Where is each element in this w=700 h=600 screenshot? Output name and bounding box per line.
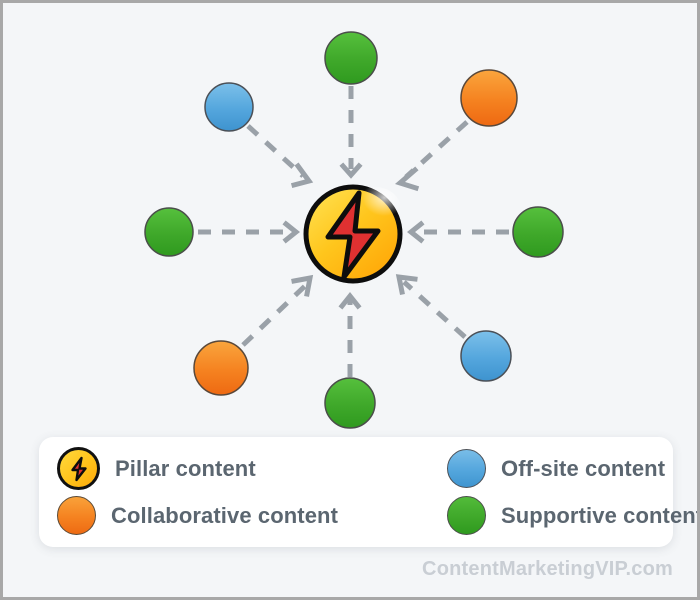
node-lower-left-orange[interactable]	[194, 341, 248, 395]
arrowhead-right-green	[411, 224, 421, 240]
node-left-green[interactable]	[145, 208, 193, 256]
node-bottom-green[interactable]	[325, 378, 375, 428]
arrow-lower-left-orange	[243, 286, 305, 345]
legend-item-supportive-content[interactable]: Supportive content	[429, 496, 673, 535]
legend-item-off-site-content[interactable]: Off-site content	[429, 449, 673, 488]
node-lower-right-blue[interactable]	[461, 331, 511, 381]
legend-label-collaborative-content: Collaborative content	[111, 503, 338, 529]
blue-circle-icon	[447, 449, 486, 488]
node-upper-left-blue[interactable]	[205, 83, 253, 131]
arrowhead-left-green	[286, 224, 296, 240]
lightning-bolt-icon	[60, 450, 97, 487]
legend-label-supportive-content: Supportive content	[501, 503, 700, 529]
node-right-green[interactable]	[513, 207, 563, 257]
legend-item-pillar-content[interactable]: Pillar content	[39, 447, 429, 490]
green-circle-icon	[447, 496, 486, 535]
legend-item-collaborative-content[interactable]: Collaborative content	[39, 496, 429, 535]
legend-label-pillar-content: Pillar content	[115, 456, 256, 482]
legend-card: Pillar content Off-site content Collabor…	[39, 437, 673, 547]
orange-circle-icon	[57, 496, 96, 535]
legend-label-off-site-content: Off-site content	[501, 456, 665, 482]
watermark: ContentMarketingVIP.com	[422, 558, 673, 581]
arrow-lower-right-blue	[404, 282, 465, 337]
pillar-swatch-icon	[57, 447, 100, 490]
diagram-canvas: Pillar content Off-site content Collabor…	[0, 0, 700, 600]
node-upper-right-orange[interactable]	[461, 70, 517, 126]
arrow-upper-left-blue	[248, 126, 303, 176]
pillar-hub-node[interactable]	[306, 187, 401, 281]
node-top-green[interactable]	[325, 32, 377, 84]
